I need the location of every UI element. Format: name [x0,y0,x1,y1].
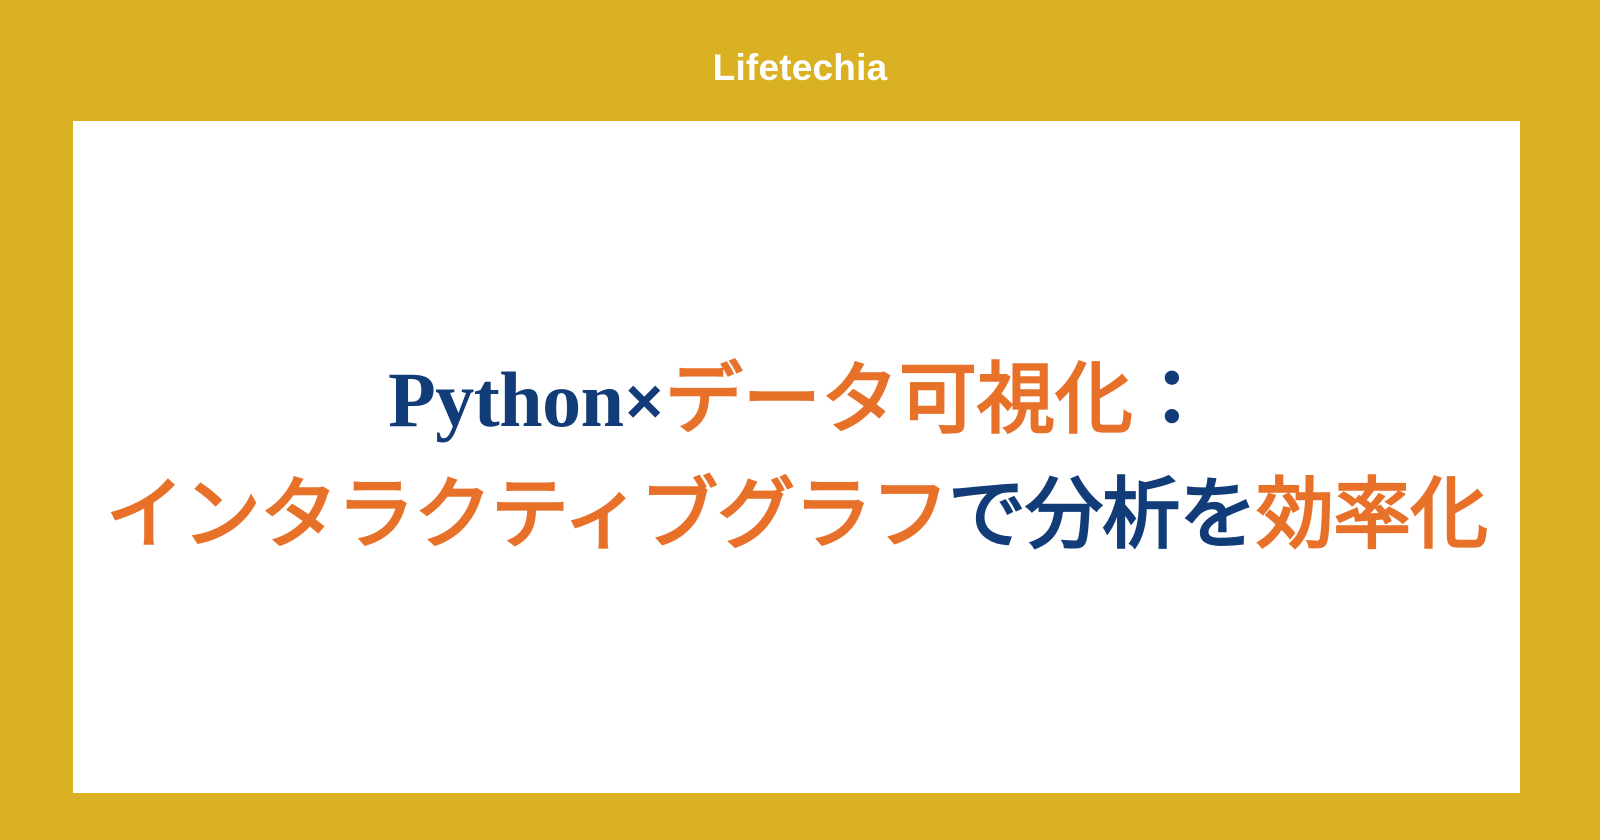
title-segment-multiply-sign: × [623,365,664,437]
title-line-2: インタラクティブグラフで分析を効率化 [79,458,1514,571]
title-line-1: Python×データ可視化： [79,343,1514,458]
eyecatch-canvas: Lifetechia Python×データ可視化： インタラクティブグラフで分析… [0,0,1600,840]
title-segment-python: Python [388,356,623,443]
title-segment-efficiency: 効率化 [1256,471,1487,558]
site-header: Lifetechia [0,0,1600,121]
title-segment-data-visualization: データ可視化 [665,356,1133,443]
content-card: Python×データ可視化： インタラクティブグラフで分析を効率化 [73,121,1520,793]
page-title: Python×データ可視化： インタラクティブグラフで分析を効率化 [73,343,1520,571]
title-segment-colon: ： [1133,356,1205,443]
title-segment-interactive-graph: インタラクティブグラフ [106,471,948,558]
site-name: Lifetechia [713,49,888,86]
title-segment-analysis: で分析を [948,471,1256,558]
